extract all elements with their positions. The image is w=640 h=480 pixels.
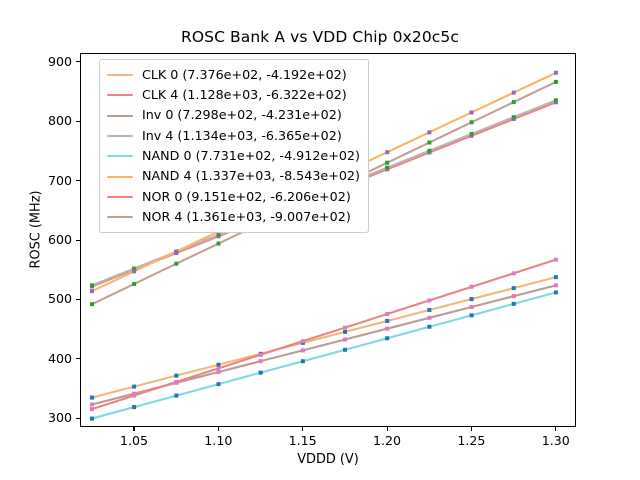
- scatter-point: [343, 348, 347, 352]
- scatter-point: [427, 316, 431, 320]
- scatter-point: [427, 325, 431, 329]
- scatter-point: [554, 80, 558, 84]
- figure-canvas: ROSC Bank A vs VDD Chip 0x20c5c 30040050…: [0, 0, 640, 480]
- x-axis-tick: [387, 427, 388, 431]
- x-axis-tick-label: 1.05: [104, 433, 164, 448]
- legend-item-inv-4[interactable]: Inv 4 (1.134e+03, -6.365e+02): [107, 126, 360, 146]
- scatter-point: [259, 359, 263, 363]
- scatter-point: [132, 394, 136, 398]
- legend-item-label: Inv 0 (7.298e+02, -4.231e+02): [142, 109, 342, 122]
- scatter-point: [427, 298, 431, 302]
- legend-color-swatch: [107, 94, 133, 96]
- scatter-point: [132, 269, 136, 273]
- scatter-point: [343, 330, 347, 334]
- scatter-point: [512, 271, 516, 275]
- scatter-point: [554, 275, 558, 279]
- legend-item-nor-0[interactable]: NOR 0 (9.151e+02, -6.206e+02): [107, 187, 360, 207]
- scatter-point: [470, 285, 474, 289]
- scatter-point: [554, 258, 558, 262]
- y-axis-label: ROSC (MHz): [29, 60, 44, 400]
- x-axis-tick-label: 1.25: [441, 433, 501, 448]
- scatter-point: [259, 353, 263, 357]
- scatter-point: [90, 283, 94, 287]
- scatter-point: [427, 130, 431, 134]
- legend-color-swatch: [107, 135, 133, 137]
- scatter-point: [174, 249, 178, 253]
- legend-item-nand-0[interactable]: NAND 0 (7.731e+02, -4.912e+02): [107, 146, 360, 166]
- scatter-point: [427, 149, 431, 153]
- x-axis-tick-label: 1.10: [188, 433, 248, 448]
- scatter-point: [217, 363, 221, 367]
- scatter-point: [90, 289, 94, 293]
- scatter-point: [90, 402, 94, 406]
- scatter-point: [385, 312, 389, 316]
- scatter-point: [385, 150, 389, 154]
- legend-item-label: Inv 4 (1.134e+03, -6.365e+02): [142, 130, 342, 143]
- scatter-point: [385, 336, 389, 340]
- scatter-point: [385, 166, 389, 170]
- scatter-point: [470, 110, 474, 114]
- scatter-point: [301, 348, 305, 352]
- legend-color-swatch: [107, 155, 133, 157]
- x-axis-tick-label: 1.15: [273, 433, 333, 448]
- scatter-point: [512, 302, 516, 306]
- legend-color-swatch: [107, 115, 133, 117]
- scatter-point: [385, 319, 389, 323]
- scatter-point: [385, 161, 389, 165]
- x-axis-tick: [133, 427, 134, 431]
- x-axis-tick: [218, 427, 219, 431]
- scatter-point: [512, 91, 516, 95]
- scatter-point: [512, 294, 516, 298]
- legend-color-swatch: [107, 196, 133, 198]
- scatter-point: [301, 359, 305, 363]
- x-axis-tick: [555, 427, 556, 431]
- scatter-point: [512, 100, 516, 104]
- scatter-point: [174, 380, 178, 384]
- series-line-nor-0: [92, 260, 556, 409]
- scatter-point: [427, 308, 431, 312]
- scatter-point: [90, 396, 94, 400]
- scatter-point: [554, 283, 558, 287]
- legend-color-swatch: [107, 176, 133, 178]
- scatter-point: [132, 405, 136, 409]
- legend-item-inv-0[interactable]: Inv 0 (7.298e+02, -4.231e+02): [107, 106, 360, 126]
- legend-color-swatch: [107, 216, 133, 218]
- chart-title: ROSC Bank A vs VDD Chip 0x20c5c: [0, 28, 640, 46]
- scatter-point: [385, 327, 389, 331]
- legend-item-clk-0[interactable]: CLK 0 (7.376e+02, -4.192e+02): [107, 65, 360, 85]
- series-line-nand-0: [92, 292, 556, 418]
- scatter-point: [90, 302, 94, 306]
- legend-item-label: CLK 4 (1.128e+03, -6.322e+02): [142, 89, 347, 102]
- scatter-point: [470, 297, 474, 301]
- scatter-point: [343, 337, 347, 341]
- scatter-point: [470, 132, 474, 136]
- y-axis-tick-label: 300: [26, 410, 72, 425]
- scatter-point: [512, 286, 516, 290]
- scatter-point: [90, 417, 94, 421]
- series-line-clk-0: [92, 277, 556, 397]
- legend-item-label: NOR 4 (1.361e+03, -9.007e+02): [142, 211, 351, 224]
- legend-item-nor-4[interactable]: NOR 4 (1.361e+03, -9.007e+02): [107, 207, 360, 227]
- scatter-point: [427, 141, 431, 145]
- scatter-point: [174, 394, 178, 398]
- scatter-point: [470, 120, 474, 124]
- scatter-point: [217, 366, 221, 370]
- legend-item-label: NOR 0 (9.151e+02, -6.206e+02): [142, 191, 351, 204]
- scatter-point: [217, 242, 221, 246]
- scatter-point: [132, 385, 136, 389]
- legend-box[interactable]: CLK 0 (7.376e+02, -4.192e+02)CLK 4 (1.12…: [99, 59, 369, 233]
- legend-item-label: NAND 4 (1.337e+03, -8.543e+02): [142, 170, 360, 183]
- legend-item-clk-4[interactable]: CLK 4 (1.128e+03, -6.322e+02): [107, 85, 360, 105]
- scatter-point: [90, 407, 94, 411]
- legend-item-label: CLK 0 (7.376e+02, -4.192e+02): [142, 69, 347, 82]
- scatter-point: [343, 326, 347, 330]
- scatter-point: [259, 371, 263, 375]
- scatter-point: [554, 290, 558, 294]
- scatter-point: [470, 313, 474, 317]
- scatter-point: [174, 374, 178, 378]
- scatter-point: [132, 282, 136, 286]
- scatter-point: [217, 370, 221, 374]
- x-axis-label: VDDD (V): [80, 452, 576, 467]
- scatter-point: [301, 339, 305, 343]
- x-axis-tick: [471, 427, 472, 431]
- legend-item-nand-4[interactable]: NAND 4 (1.337e+03, -8.543e+02): [107, 166, 360, 186]
- scatter-point: [470, 305, 474, 309]
- x-axis-tick-label: 1.20: [357, 433, 417, 448]
- x-axis-tick: [302, 427, 303, 431]
- x-axis-tick-label: 1.30: [526, 433, 586, 448]
- scatter-point: [554, 98, 558, 102]
- scatter-point: [174, 262, 178, 266]
- scatter-point: [554, 71, 558, 75]
- scatter-point: [217, 382, 221, 386]
- legend-color-swatch: [107, 74, 133, 76]
- scatter-point: [512, 115, 516, 119]
- legend-item-label: NAND 0 (7.731e+02, -4.912e+02): [142, 150, 360, 163]
